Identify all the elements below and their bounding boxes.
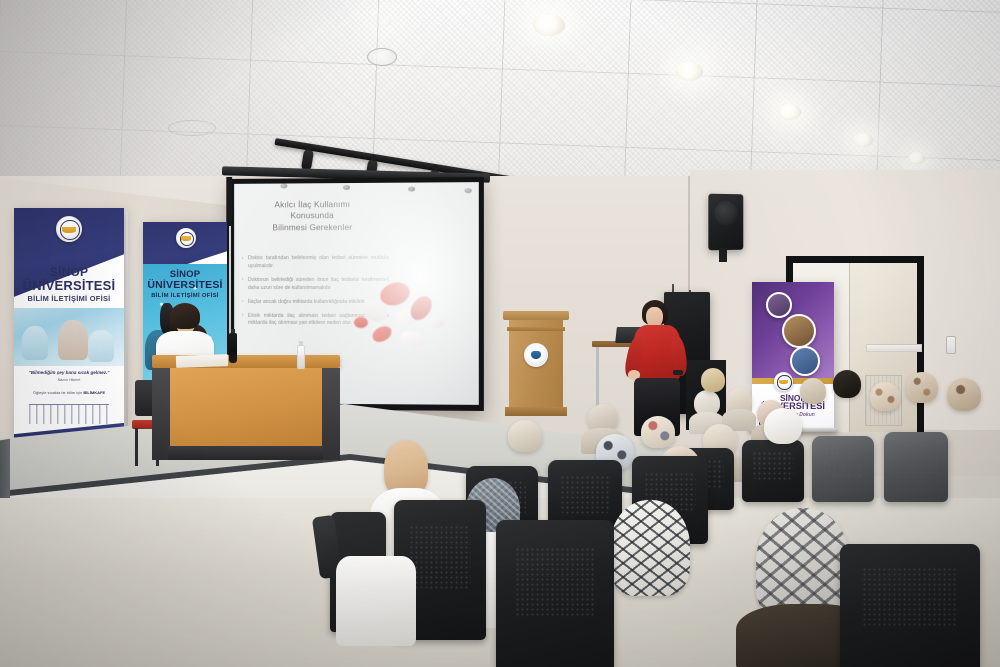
university-emblem-icon xyxy=(774,372,793,391)
black-bottle xyxy=(229,333,237,363)
ceiling-vent-icon xyxy=(168,120,216,136)
auditorium-seat[interactable] xyxy=(496,520,614,667)
downlight-icon xyxy=(853,133,873,147)
slide-title-line-3: Bilinmesi Gerekenler xyxy=(242,222,383,234)
smartwatch-icon xyxy=(673,370,683,375)
banner-left-photo xyxy=(14,308,124,366)
headscarf-patterned xyxy=(641,416,675,448)
pill-shape xyxy=(354,317,368,328)
banner-left-title-2: ÜNİVERSİTESİ xyxy=(14,279,124,293)
headscarf-white xyxy=(764,408,802,444)
seat-perforation xyxy=(515,547,595,617)
auditorium-seat[interactable] xyxy=(884,432,948,502)
screen-tab xyxy=(280,183,287,188)
slide-pill-illustration xyxy=(350,261,467,362)
headscarf xyxy=(508,420,542,452)
banner-left-cta: Öğleyle sıcakta bir bilim için BİLİMKAFE xyxy=(14,390,124,395)
banner-photo-circle-lab xyxy=(766,292,792,318)
banner-left-cta-brand: BİLİMKAFE xyxy=(83,390,105,395)
seat-perforation xyxy=(409,525,472,589)
wall-speaker-icon xyxy=(708,194,743,251)
auditorium-seat[interactable] xyxy=(812,436,874,502)
lectern xyxy=(505,311,567,416)
university-crest-icon xyxy=(524,343,548,367)
ceiling-vent-icon xyxy=(367,48,397,66)
downlight-icon xyxy=(533,14,565,36)
university-emblem-icon xyxy=(176,228,196,248)
screen-tab xyxy=(408,187,415,192)
headscarf xyxy=(800,378,826,404)
moderator-hair xyxy=(170,303,200,329)
speaker-bracket xyxy=(719,248,727,262)
headscarf-patterned xyxy=(947,378,981,411)
seat-perforation xyxy=(752,451,794,480)
downlight-icon xyxy=(381,18,391,26)
seat-perforation xyxy=(822,448,864,478)
head-table xyxy=(152,355,340,465)
headscarf-keffiyeh xyxy=(610,500,690,596)
downlight-icon xyxy=(778,104,801,120)
slide-title-line-2: Konusunda xyxy=(242,210,383,222)
banner-left-pole xyxy=(126,212,128,454)
lectern-lip xyxy=(507,327,565,331)
pill-shape xyxy=(399,329,425,348)
banner-photo-circle-workshop xyxy=(782,314,816,348)
headscarf-patterned xyxy=(906,372,938,403)
auditorium-seat[interactable] xyxy=(840,544,980,667)
headscarf-patterned xyxy=(870,382,900,411)
audience-lap xyxy=(336,556,416,646)
banner-left-quote-author: Nâzım Hikmet xyxy=(14,378,124,382)
side-desk-leg xyxy=(596,347,599,409)
slide-title-line-1: Akılcı İlaç Kullanımı xyxy=(242,199,383,211)
wall-trim-panel xyxy=(866,344,922,352)
pill-shape xyxy=(428,316,444,328)
parthenon-graphic-icon xyxy=(29,404,108,424)
chair-leg xyxy=(135,428,138,466)
downlight-icon xyxy=(676,62,703,81)
screen-tab xyxy=(465,188,472,193)
light-switch-icon[interactable] xyxy=(946,336,956,354)
pill-shape xyxy=(370,323,394,345)
banner-left-cta-prefix: Öğleyle sıcakta bir bilim için xyxy=(33,390,82,395)
headscarf xyxy=(833,370,861,398)
banner-middle-title-2: ÜNİVERSİTESİ xyxy=(143,280,227,291)
banner-left: SİNOP ÜNİVERSİTESİ BİLİM İLETİŞİMİ OFİSİ… xyxy=(14,208,124,455)
water-bottle xyxy=(297,345,305,369)
seat-perforation xyxy=(894,445,938,477)
banner-middle-subtitle: BİLİM İLETİŞİMİ OFİSİ xyxy=(143,293,227,299)
table-foot-rail xyxy=(168,446,323,460)
banner-photo-circle-students xyxy=(790,346,820,376)
screen-tab xyxy=(343,185,350,190)
banner-left-title-1: SİNOP xyxy=(14,266,124,279)
banner-left-subtitle: BİLİM İLETİŞİMİ OFİSİ xyxy=(14,295,124,303)
papers-on-table xyxy=(176,354,228,368)
downlight-icon xyxy=(908,152,925,164)
auditorium-seat[interactable] xyxy=(742,440,804,502)
table-side-right xyxy=(322,368,340,460)
table-front-panel xyxy=(168,368,323,446)
lectern-top xyxy=(503,311,569,320)
banner-left-quote: "Bilmediğim şey bana sıcak gelmez." xyxy=(14,370,124,375)
university-emblem-icon xyxy=(56,216,82,242)
auditorium-photo: Akılcı İlaç Kullanımı Konusunda Bilinmes… xyxy=(0,0,1000,667)
seat-perforation xyxy=(862,567,957,627)
slide-title: Akılcı İlaç Kullanımı Konusunda Bilinmes… xyxy=(242,199,383,234)
seat-perforation xyxy=(560,475,610,514)
lectern-base xyxy=(505,407,567,416)
hair-blonde xyxy=(701,368,725,392)
